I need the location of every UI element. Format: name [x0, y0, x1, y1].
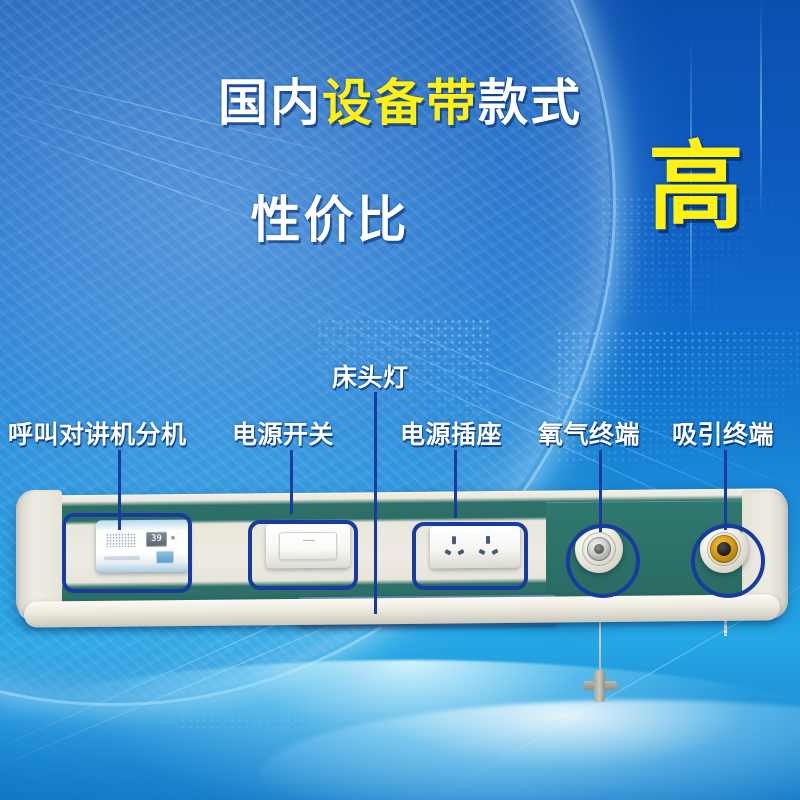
callout-label-oxygen: 氧气终端	[538, 415, 640, 451]
leader-line-suction	[724, 450, 727, 530]
callout-label-bedlight: 床头灯	[332, 358, 409, 394]
highlight-intercom	[62, 513, 192, 593]
leader-line-switch	[290, 450, 293, 514]
callout-label-intercom: 呼叫对讲机分机	[8, 415, 187, 451]
highlight-suction	[691, 524, 765, 598]
headline-subtitle: 性价比	[251, 180, 410, 252]
leader-line-bedlight	[374, 392, 377, 614]
headline-part-2: 设备带	[322, 75, 478, 131]
headline-part-3: 款式	[478, 75, 582, 131]
headline-block: 国内设备带款式 性价比	[0, 78, 800, 128]
highlight-socket	[412, 522, 528, 590]
flowmeter-hook-body	[594, 670, 605, 702]
headline-emphasis: 高	[648, 140, 744, 236]
headline-line-1: 国内设备带款式	[218, 78, 582, 128]
panel-end-cap-left	[16, 490, 62, 619]
callout-label-suction: 吸引终端	[672, 415, 774, 451]
leader-line-intercom	[118, 450, 121, 530]
leader-line-oxygen	[599, 450, 602, 532]
callout-label-switch: 电源开关	[232, 415, 334, 451]
callout-label-socket: 电源插座	[400, 415, 502, 451]
headline-part-1: 国内	[218, 75, 322, 131]
highlight-switch	[248, 520, 358, 590]
leader-line-socket	[454, 450, 457, 518]
poster-stage: 国内设备带款式 性价比 高 呼叫对讲机分机 电源开关 床头灯 电源插座 氧气终端…	[0, 0, 800, 800]
highlight-oxygen	[566, 524, 640, 598]
